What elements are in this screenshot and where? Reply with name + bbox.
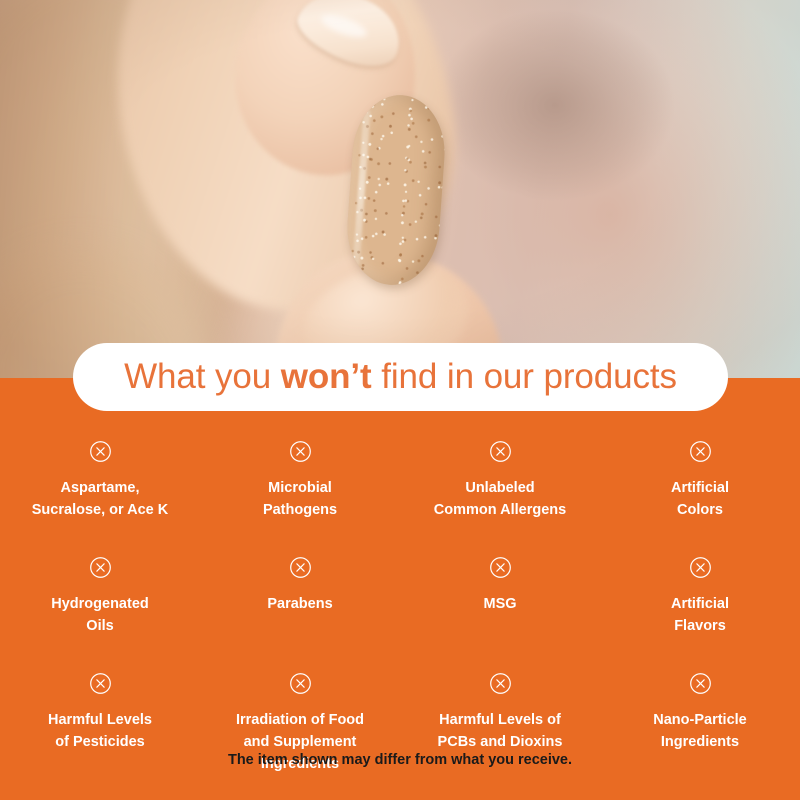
excluded-ingredient-label: Aspartame, Sucralose, or Ace K (32, 477, 168, 521)
excluded-ingredient-label: Parabens (267, 593, 332, 615)
photo-vignette (0, 0, 800, 380)
excluded-ingredient-label: Harmful Levels of PCBs and Dioxins (438, 709, 563, 753)
circle-x-icon (689, 440, 712, 463)
circle-x-icon (489, 672, 512, 695)
excluded-ingredient-label: Artificial Flavors (671, 593, 729, 637)
circle-x-icon (289, 556, 312, 579)
excluded-ingredient-item: Aspartame, Sucralose, or Ace K (0, 440, 200, 521)
excluded-ingredient-label: Unlabeled Common Allergens (434, 477, 566, 521)
circle-x-icon (489, 440, 512, 463)
excluded-ingredient-item: Microbial Pathogens (200, 440, 400, 521)
excluded-ingredient-label: Hydrogenated Oils (51, 593, 149, 637)
circle-x-icon (289, 672, 312, 695)
disclaimer-text: The item shown may differ from what you … (0, 752, 800, 768)
excluded-ingredient-label: MSG (483, 593, 516, 615)
excluded-ingredient-item: MSG (400, 556, 600, 637)
title-banner: What you won’t find in our products (73, 343, 728, 411)
title-part-2: find in our products (372, 357, 677, 396)
circle-x-icon (89, 556, 112, 579)
excluded-ingredient-item: Artificial Colors (600, 440, 800, 521)
circle-x-icon (689, 672, 712, 695)
title-part-1: What you (124, 357, 281, 396)
excluded-ingredient-item: Parabens (200, 556, 400, 637)
page-title: What you won’t find in our products (124, 357, 677, 397)
excluded-ingredients-grid: Aspartame, Sucralose, or Ace KMicrobial … (0, 440, 800, 775)
excluded-ingredient-label: Artificial Colors (671, 477, 729, 521)
product-infographic: What you won’t find in our products Aspa… (0, 0, 800, 800)
excluded-ingredient-item: Artificial Flavors (600, 556, 800, 637)
circle-x-icon (689, 556, 712, 579)
excluded-ingredient-label: Nano-Particle Ingredients (653, 709, 746, 753)
product-photo (0, 0, 800, 380)
excluded-ingredient-item: Hydrogenated Oils (0, 556, 200, 637)
circle-x-icon (89, 672, 112, 695)
title-emphasis: won’t (281, 357, 372, 396)
circle-x-icon (489, 556, 512, 579)
excluded-ingredient-item: Unlabeled Common Allergens (400, 440, 600, 521)
excluded-ingredient-label: Harmful Levels of Pesticides (48, 709, 152, 753)
circle-x-icon (89, 440, 112, 463)
excluded-ingredient-label: Microbial Pathogens (263, 477, 337, 521)
circle-x-icon (289, 440, 312, 463)
